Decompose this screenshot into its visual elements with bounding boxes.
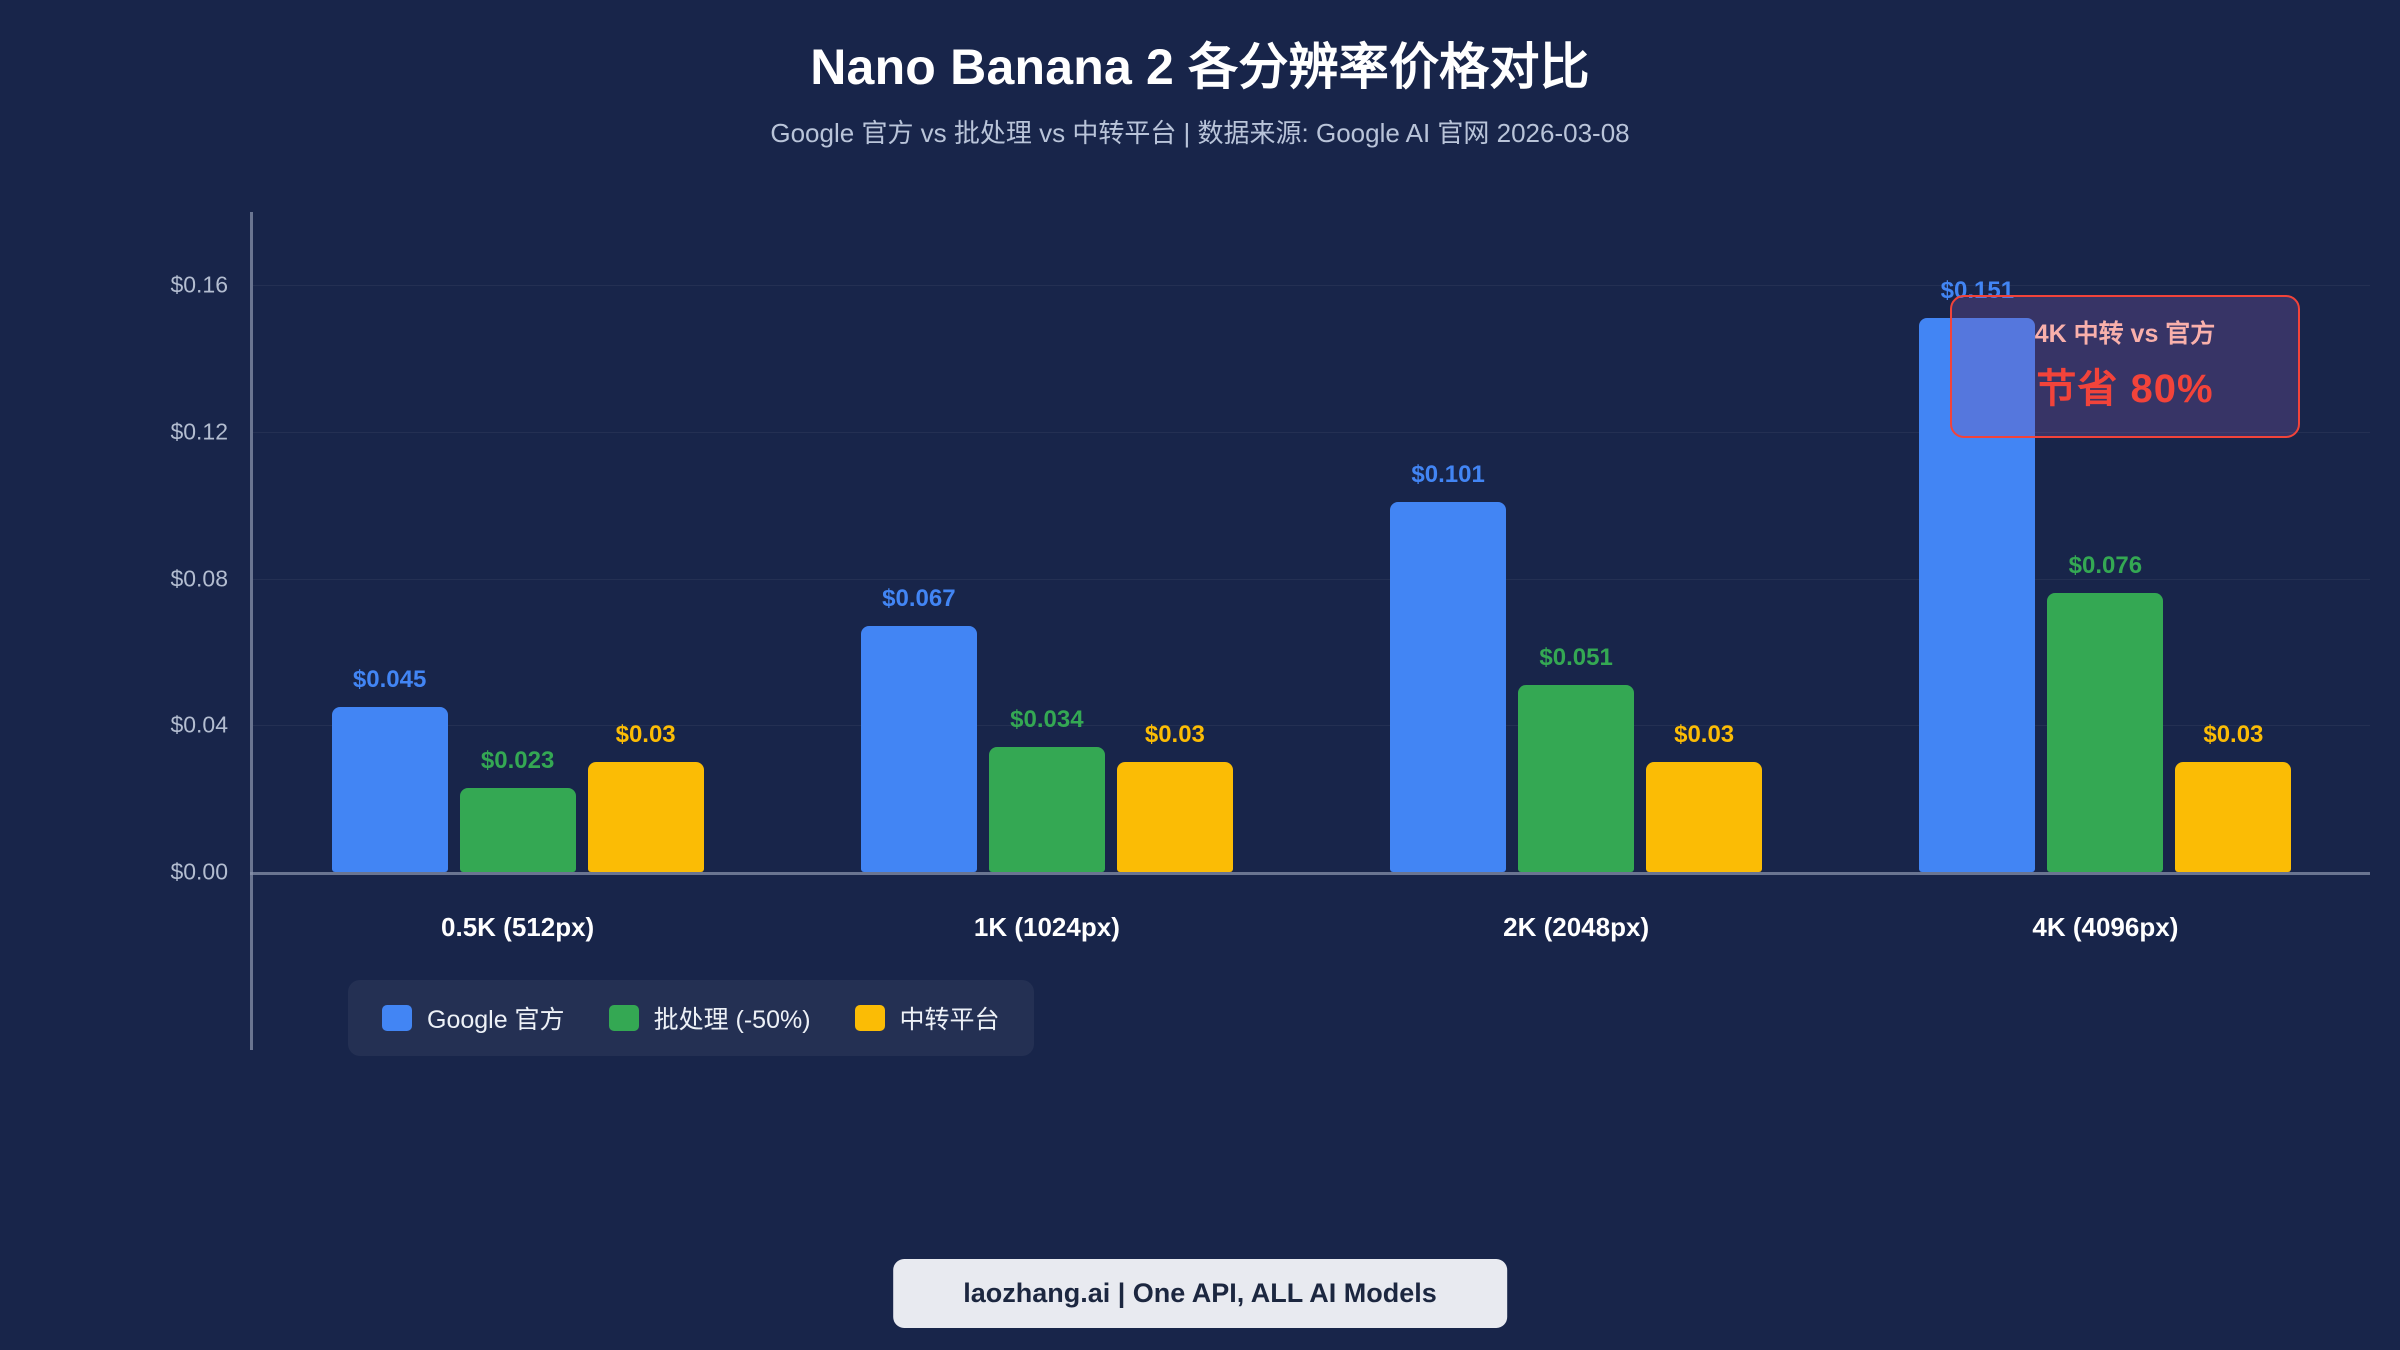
y-axis-tick: $0.12 (170, 419, 228, 446)
savings-callout-title: 4K 中转 vs 官方 (1962, 314, 2288, 350)
x-axis-category-label: 4K (4096px) (1841, 912, 2370, 943)
bar[interactable]: $0.051 (1518, 685, 1634, 872)
brand-badge: laozhang.ai | One API, ALL AI Models (893, 1259, 1507, 1328)
bar-value-label: $0.023 (481, 747, 554, 775)
y-axis-tick: $0.04 (170, 712, 228, 739)
page-title: Nano Banana 2 各分辨率价格对比 (0, 38, 2400, 97)
bar[interactable]: $0.03 (588, 762, 704, 872)
legend-label: 中转平台 (900, 1000, 1000, 1036)
bar-slot: $0.023 (460, 212, 576, 872)
bar-value-label: $0.034 (1010, 706, 1083, 734)
page-subtitle: Google 官方 vs 批处理 vs 中转平台 | 数据来源: Google … (0, 113, 2400, 150)
bar-slot: $0.034 (989, 212, 1105, 872)
savings-callout-value: 节省 80% (1962, 356, 2288, 414)
bar-group: $0.067$0.034$0.031K (1024px) (782, 212, 1311, 872)
legend-item[interactable]: 批处理 (-50%) (609, 1000, 811, 1036)
bar[interactable]: $0.03 (1117, 762, 1233, 872)
bar-slot: $0.101 (1390, 212, 1506, 872)
legend-item[interactable]: Google 官方 (382, 1000, 565, 1036)
bar-slot: $0.03 (588, 212, 704, 872)
bar-value-label: $0.076 (2069, 552, 2142, 580)
bar[interactable]: $0.03 (1646, 762, 1762, 872)
bar-value-label: $0.03 (616, 721, 676, 749)
bar-value-label: $0.03 (1674, 721, 1734, 749)
x-axis-category-label: 2K (2048px) (1312, 912, 1841, 943)
chart-header: Nano Banana 2 各分辨率价格对比 Google 官方 vs 批处理 … (0, 38, 2400, 150)
bar-slot: $0.03 (1646, 212, 1762, 872)
legend-swatch-icon (609, 1005, 639, 1031)
legend-swatch-icon (382, 1005, 412, 1031)
legend-item[interactable]: 中转平台 (855, 1000, 1000, 1036)
legend-swatch-icon (855, 1005, 885, 1031)
bar-group: $0.045$0.023$0.030.5K (512px) (253, 212, 782, 872)
bar[interactable]: $0.045 (332, 707, 448, 872)
bar-value-label: $0.101 (1411, 461, 1484, 489)
bar[interactable]: $0.034 (989, 747, 1105, 872)
bar-slot: $0.045 (332, 212, 448, 872)
x-axis-category-label: 1K (1024px) (782, 912, 1311, 943)
legend-label: Google 官方 (427, 1000, 565, 1036)
x-axis-line (250, 872, 2370, 875)
bar-value-label: $0.045 (353, 666, 426, 694)
bar[interactable]: $0.03 (2175, 762, 2291, 872)
bar-value-label: $0.03 (1145, 721, 1205, 749)
bar-group: $0.101$0.051$0.032K (2048px) (1312, 212, 1841, 872)
chart-legend: Google 官方批处理 (-50%)中转平台 (348, 980, 1034, 1056)
y-axis-tick: $0.16 (170, 272, 228, 299)
chart-page: { "header": { "title": "Nano Banana 2 各分… (0, 0, 2400, 1350)
bar[interactable]: $0.101 (1390, 502, 1506, 872)
y-axis-tick: $0.00 (170, 859, 228, 886)
bar-slot: $0.067 (861, 212, 977, 872)
bar[interactable]: $0.023 (460, 788, 576, 872)
bar[interactable]: $0.076 (2047, 593, 2163, 872)
bar[interactable]: $0.067 (861, 626, 977, 872)
x-axis-category-label: 0.5K (512px) (253, 912, 782, 943)
bar-value-label: $0.067 (882, 585, 955, 613)
y-axis-tick: $0.08 (170, 565, 228, 592)
bar-slot: $0.051 (1518, 212, 1634, 872)
bar-value-label: $0.03 (2203, 721, 2263, 749)
bar-value-label: $0.051 (1539, 644, 1612, 672)
legend-label: 批处理 (-50%) (654, 1000, 811, 1036)
bar-slot: $0.03 (1117, 212, 1233, 872)
savings-callout: 4K 中转 vs 官方 节省 80% (1950, 295, 2300, 438)
